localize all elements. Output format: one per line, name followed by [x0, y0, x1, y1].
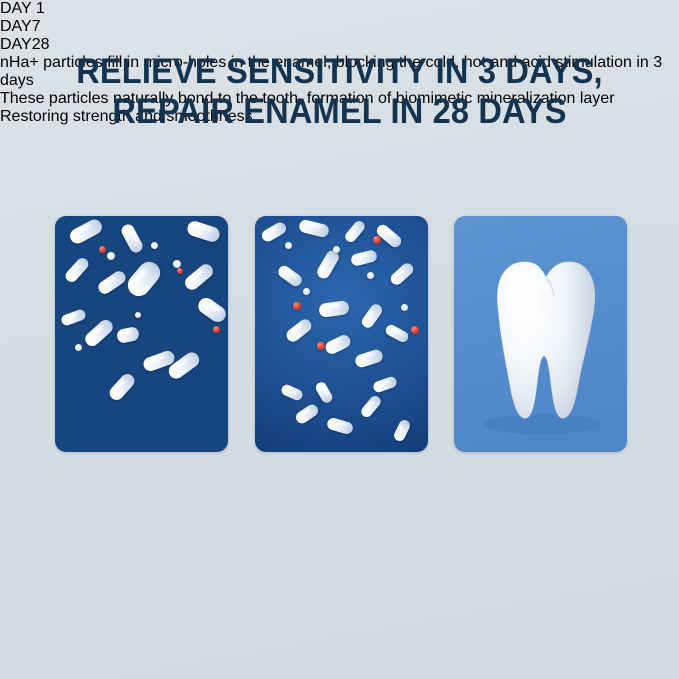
- status-badge-day28: DAY28: [0, 36, 50, 53]
- enamel-surface: [55, 384, 228, 452]
- tooth-illustration: [454, 216, 627, 452]
- step-image-day7: [255, 216, 428, 452]
- step-badge-row: DAY 1 DAY7 DAY28: [0, 0, 679, 54]
- badge-slot-2: DAY7: [0, 18, 679, 36]
- infographic-page: RELIEVE SENSITIVITY IN 3 DAYS, REPAIR EN…: [0, 0, 679, 679]
- status-badge-day7: DAY7: [0, 18, 41, 35]
- headline-line-1: RELIEVE SENSITIVITY IN 3 DAYS,: [24, 52, 655, 92]
- page-title: RELIEVE SENSITIVITY IN 3 DAYS, REPAIR EN…: [24, 52, 655, 132]
- status-badge-day1: DAY 1: [0, 0, 45, 17]
- step-image-day28: [454, 216, 627, 452]
- badge-slot-1: DAY 1: [0, 0, 679, 18]
- step-image-day1: [55, 216, 228, 452]
- step-image-row: [55, 216, 627, 452]
- headline-line-2: REPAIR ENAMEL IN 28 DAYS: [24, 92, 655, 132]
